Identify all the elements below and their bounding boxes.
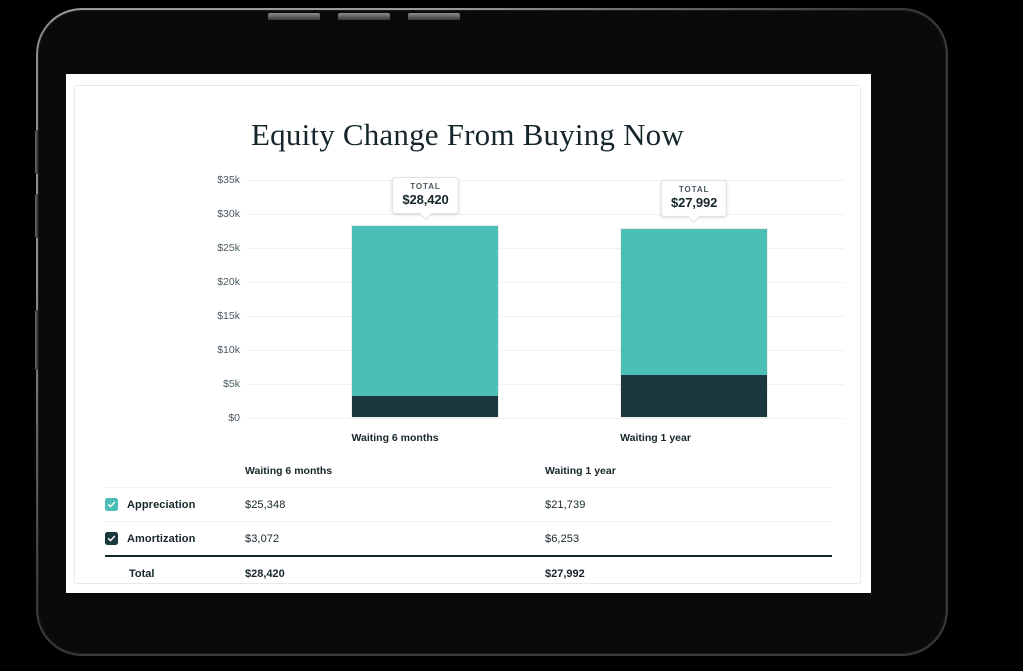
column-header-label: Waiting 6 months xyxy=(245,465,332,477)
y-axis-tick-label: $20k xyxy=(217,276,240,288)
y-axis-tick-label: $5k xyxy=(223,378,240,390)
y-axis-tick-label: $0 xyxy=(228,412,240,424)
equity-bar-chart: $0$5k$10k$15k$20k$25k$30k$35k TOTAL$28,4… xyxy=(75,180,862,440)
bar-segment-amortization[interactable] xyxy=(352,396,498,417)
legend-breakdown-table: Waiting 6 months Waiting 1 year xyxy=(105,454,832,590)
checkbox-appreciation[interactable] xyxy=(105,498,118,511)
x-axis-category-label: Waiting 6 months xyxy=(351,432,438,444)
y-axis-tick-label: $30k xyxy=(217,208,240,220)
y-axis-tick-label: $35k xyxy=(217,174,240,186)
value-appreciation-period-2: $21,739 xyxy=(545,488,832,522)
value-amortization-period-2: $6,253 xyxy=(545,522,832,557)
gridline xyxy=(247,418,844,419)
legend-cell-amortization[interactable]: Amortization xyxy=(105,522,245,557)
header-blank-cell xyxy=(105,454,245,488)
total-label: Total xyxy=(105,556,245,590)
tooltip-caption: TOTAL xyxy=(671,185,717,194)
y-axis-tick-label: $15k xyxy=(217,310,240,322)
y-axis-tick-label: $10k xyxy=(217,344,240,356)
equity-report-card: Equity Change From Buying Now $0$5k$10k$… xyxy=(74,85,861,584)
value-appreciation-period-1: $25,348 xyxy=(245,488,545,522)
column-header-period-1: Waiting 6 months xyxy=(245,454,545,488)
tooltip-total-value: $28,420 xyxy=(402,192,448,207)
total-value-period-1: $28,420 xyxy=(245,556,545,590)
value-amortization-period-1: $3,072 xyxy=(245,522,545,557)
side-button-middle[interactable] xyxy=(35,194,38,238)
side-button-lower[interactable] xyxy=(35,310,38,370)
power-button[interactable] xyxy=(268,13,320,20)
table-row-total: Total $28,420 $27,992 xyxy=(105,556,832,590)
total-tooltip: TOTAL$27,992 xyxy=(661,180,727,217)
tablet-screen: Equity Change From Buying Now $0$5k$10k$… xyxy=(66,74,871,593)
table-header-row: Waiting 6 months Waiting 1 year xyxy=(105,454,832,488)
y-axis-tick-label: $25k xyxy=(217,242,240,254)
stacked-bar[interactable] xyxy=(620,228,768,418)
tooltip-total-value: $27,992 xyxy=(671,195,717,210)
legend-label-amortization: Amortization xyxy=(127,533,195,545)
column-header-period-2: Waiting 1 year xyxy=(545,454,832,488)
x-axis-category-label: Waiting 1 year xyxy=(620,432,691,444)
side-button-upper[interactable] xyxy=(35,130,38,174)
checkbox-amortization[interactable] xyxy=(105,532,118,545)
stacked-bar[interactable] xyxy=(351,225,499,418)
legend-label-appreciation: Appreciation xyxy=(127,499,195,511)
y-axis: $0$5k$10k$15k$20k$25k$30k$35k xyxy=(185,180,240,418)
total-tooltip: TOTAL$28,420 xyxy=(392,177,458,214)
bar-segment-appreciation[interactable] xyxy=(621,229,767,375)
legend-cell-appreciation[interactable]: Appreciation xyxy=(105,488,245,522)
page-title: Equity Change From Buying Now xyxy=(75,117,860,153)
plot-area: TOTAL$28,420TOTAL$27,992 xyxy=(247,180,844,418)
volume-down-button[interactable] xyxy=(408,13,460,20)
legend-table-body: Waiting 6 months Waiting 1 year xyxy=(105,454,832,590)
bar-segment-appreciation[interactable] xyxy=(352,226,498,397)
tooltip-caption: TOTAL xyxy=(402,182,448,191)
column-header-label: Waiting 1 year xyxy=(545,465,616,477)
total-value-period-2: $27,992 xyxy=(545,556,832,590)
bar-segment-amortization[interactable] xyxy=(621,375,767,417)
table-row[interactable]: Amortization $3,072 $6,253 xyxy=(105,522,832,557)
volume-up-button[interactable] xyxy=(338,13,390,20)
table-row[interactable]: Appreciation $25,348 $21,739 xyxy=(105,488,832,522)
